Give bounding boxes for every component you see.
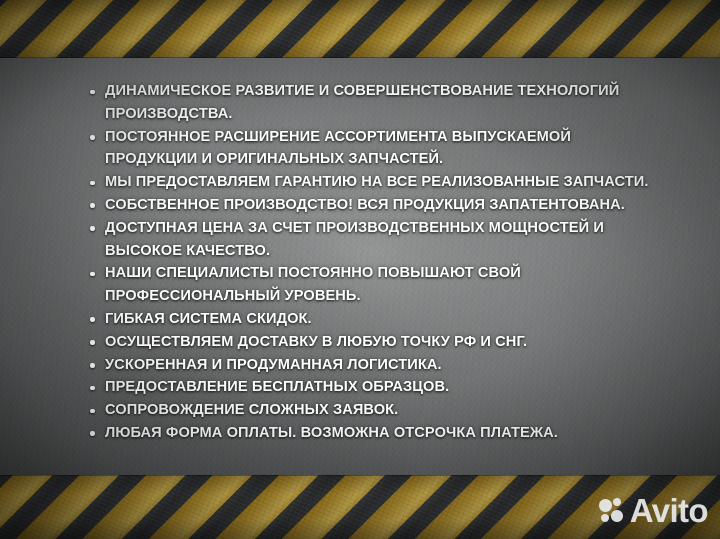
list-item: ОСУЩЕСТВЛЯЕМ ДОСТАВКУ В ЛЮБУЮ ТОЧКУ РФ И… (88, 331, 660, 354)
avito-dot-small-bottom-left (601, 514, 609, 522)
list-item: ГИБКАЯ СИСТЕМА СКИДОК. (88, 308, 660, 331)
avito-watermark: Avito (599, 494, 708, 527)
list-item: ДИНАМИЧЕСКОЕ РАЗВИТИЕ И СОВЕРШЕНСТВОВАНИ… (88, 80, 660, 126)
avito-logo-icon (599, 498, 626, 524)
list-item: ПОСТОЯННОЕ РАСШИРЕНИЕ АССОРТИМЕНТА ВЫПУС… (88, 126, 660, 172)
avito-dot-small-top-right (613, 498, 621, 506)
list-item: УСКОРЕННАЯ И ПРОДУМАННАЯ ЛОГИСТИКА. (88, 354, 660, 377)
hazard-stripe-band-top (0, 0, 720, 58)
list-item: ДОСТУПНАЯ ЦЕНА ЗА СЧЕТ ПРОИЗВОДСТВЕННЫХ … (88, 217, 660, 263)
feature-list: ДИНАМИЧЕСКОЕ РАЗВИТИЕ И СОВЕРШЕНСТВОВАНИ… (88, 80, 660, 445)
hazard-edge-shadow-top (0, 57, 720, 58)
list-item: ЛЮБАЯ ФОРМА ОПЛАТЫ. ВОЗМОЖНА ОТСРОЧКА ПЛ… (88, 422, 660, 445)
avito-wordmark: Avito (630, 494, 708, 527)
hazard-edge-shadow-bottom (0, 475, 720, 476)
avito-dot-large-bottom-right (611, 510, 623, 522)
list-item: ПРЕДОСТАВЛЕНИЕ БЕСПЛАТНЫХ ОБРАЗЦОВ. (88, 376, 660, 399)
advertisement-banner: ДИНАМИЧЕСКОЕ РАЗВИТИЕ И СОВЕРШЕНСТВОВАНИ… (0, 0, 720, 539)
list-item: СОПРОВОЖДЕНИЕ СЛОЖНЫХ ЗАЯВОК. (88, 399, 660, 422)
list-item: НАШИ СПЕЦИАЛИСТЫ ПОСТОЯННО ПОВЫШАЮТ СВОЙ… (88, 262, 660, 308)
avito-dot-large-top-left (599, 499, 612, 512)
list-item: СОБСТВЕННОЕ ПРОИЗВОДСТВО! ВСЯ ПРОДУКЦИЯ … (88, 194, 660, 217)
list-item: МЫ ПРЕДОСТАВЛЯЕМ ГАРАНТИЮ НА ВСЕ РЕАЛИЗО… (88, 171, 660, 194)
hazard-shading-top (0, 0, 720, 58)
